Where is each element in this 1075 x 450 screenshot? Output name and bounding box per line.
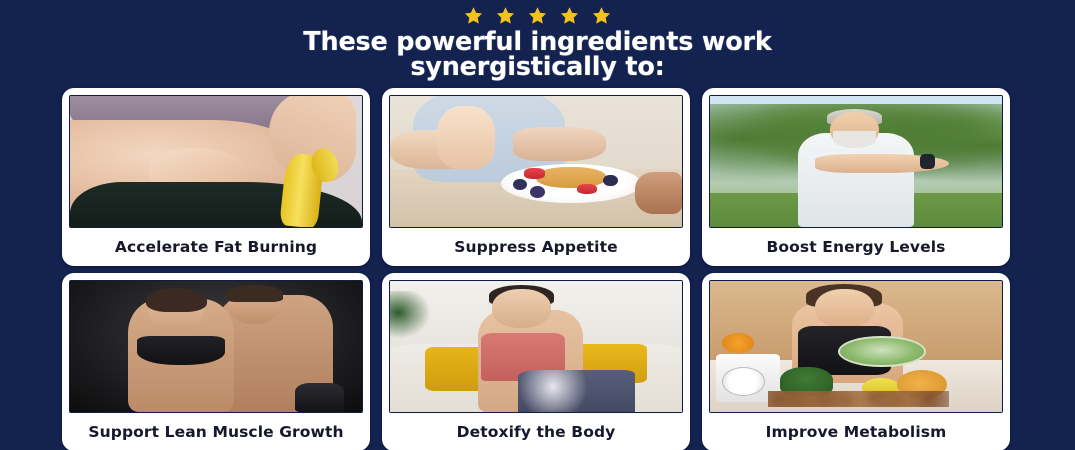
star-icon (496, 6, 515, 25)
benefit-card-label: Accelerate Fat Burning (69, 228, 363, 266)
star-icon (464, 6, 483, 25)
photo-woman-eating-salad (710, 281, 1002, 412)
benefit-card-label: Support Lean Muscle Growth (69, 413, 363, 450)
photo-waist-measure (70, 96, 362, 227)
card-image-frame (709, 280, 1003, 413)
photo-fit-couple (70, 281, 362, 412)
benefit-card-label: Suppress Appetite (389, 228, 683, 266)
star-icon (528, 6, 547, 25)
photo-refusing-food (390, 96, 682, 227)
card-image-frame (389, 95, 683, 228)
benefit-card-detoxify-the-body[interactable]: Detoxify the Body (382, 273, 690, 450)
star-icon (560, 6, 579, 25)
star-icon (592, 6, 611, 25)
page-title-line-2: synergistically to: (178, 55, 898, 80)
benefit-card-improve-metabolism[interactable]: Improve Metabolism (702, 273, 1010, 450)
benefit-card-accelerate-fat-burning[interactable]: Accelerate Fat Burning (62, 88, 370, 266)
page-title: These powerful ingredients work synergis… (178, 30, 898, 80)
promo-page: These powerful ingredients work synergis… (0, 0, 1075, 450)
photo-man-in-park (710, 96, 1002, 227)
benefit-card-suppress-appetite[interactable]: Suppress Appetite (382, 88, 690, 266)
card-image-frame (709, 95, 1003, 228)
benefit-card-support-lean-muscle-growth[interactable]: Support Lean Muscle Growth (62, 273, 370, 450)
benefit-card-grid: Accelerate Fat Burning Suppress Appetite (62, 88, 1010, 450)
card-image-frame (69, 280, 363, 413)
photo-woman-yoga-couch (390, 281, 682, 412)
card-image-frame (69, 95, 363, 228)
benefit-card-label: Detoxify the Body (389, 413, 683, 450)
star-rating (464, 3, 611, 27)
card-image-frame (389, 280, 683, 413)
benefit-card-label: Improve Metabolism (709, 413, 1003, 450)
benefit-card-label: Boost Energy Levels (709, 228, 1003, 266)
benefit-card-boost-energy-levels[interactable]: Boost Energy Levels (702, 88, 1010, 266)
